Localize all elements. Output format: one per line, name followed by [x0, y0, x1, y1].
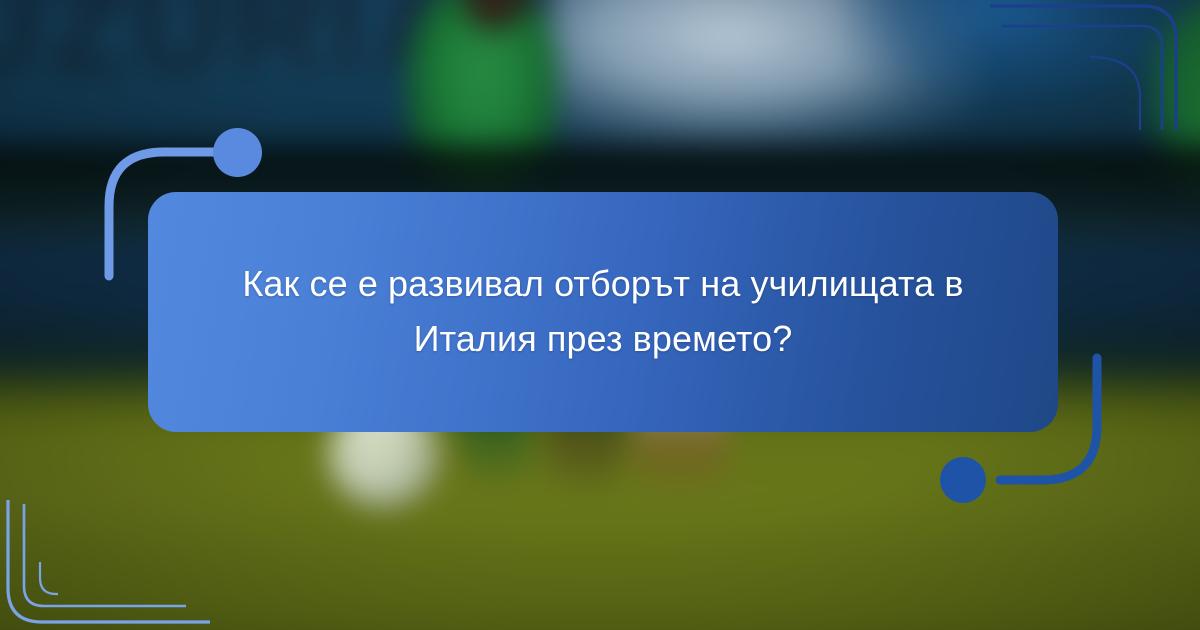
accent-dot-top-icon — [213, 128, 262, 177]
accent-dot-bottom-icon — [940, 457, 986, 503]
question-card: Как се е развивал отборът на училищата в… — [148, 192, 1058, 432]
question-text: Как се е развивал отборът на училищата в… — [210, 257, 996, 366]
question-card-graphic: UZURIAC Как се е развивал отборът на — [0, 0, 1200, 630]
